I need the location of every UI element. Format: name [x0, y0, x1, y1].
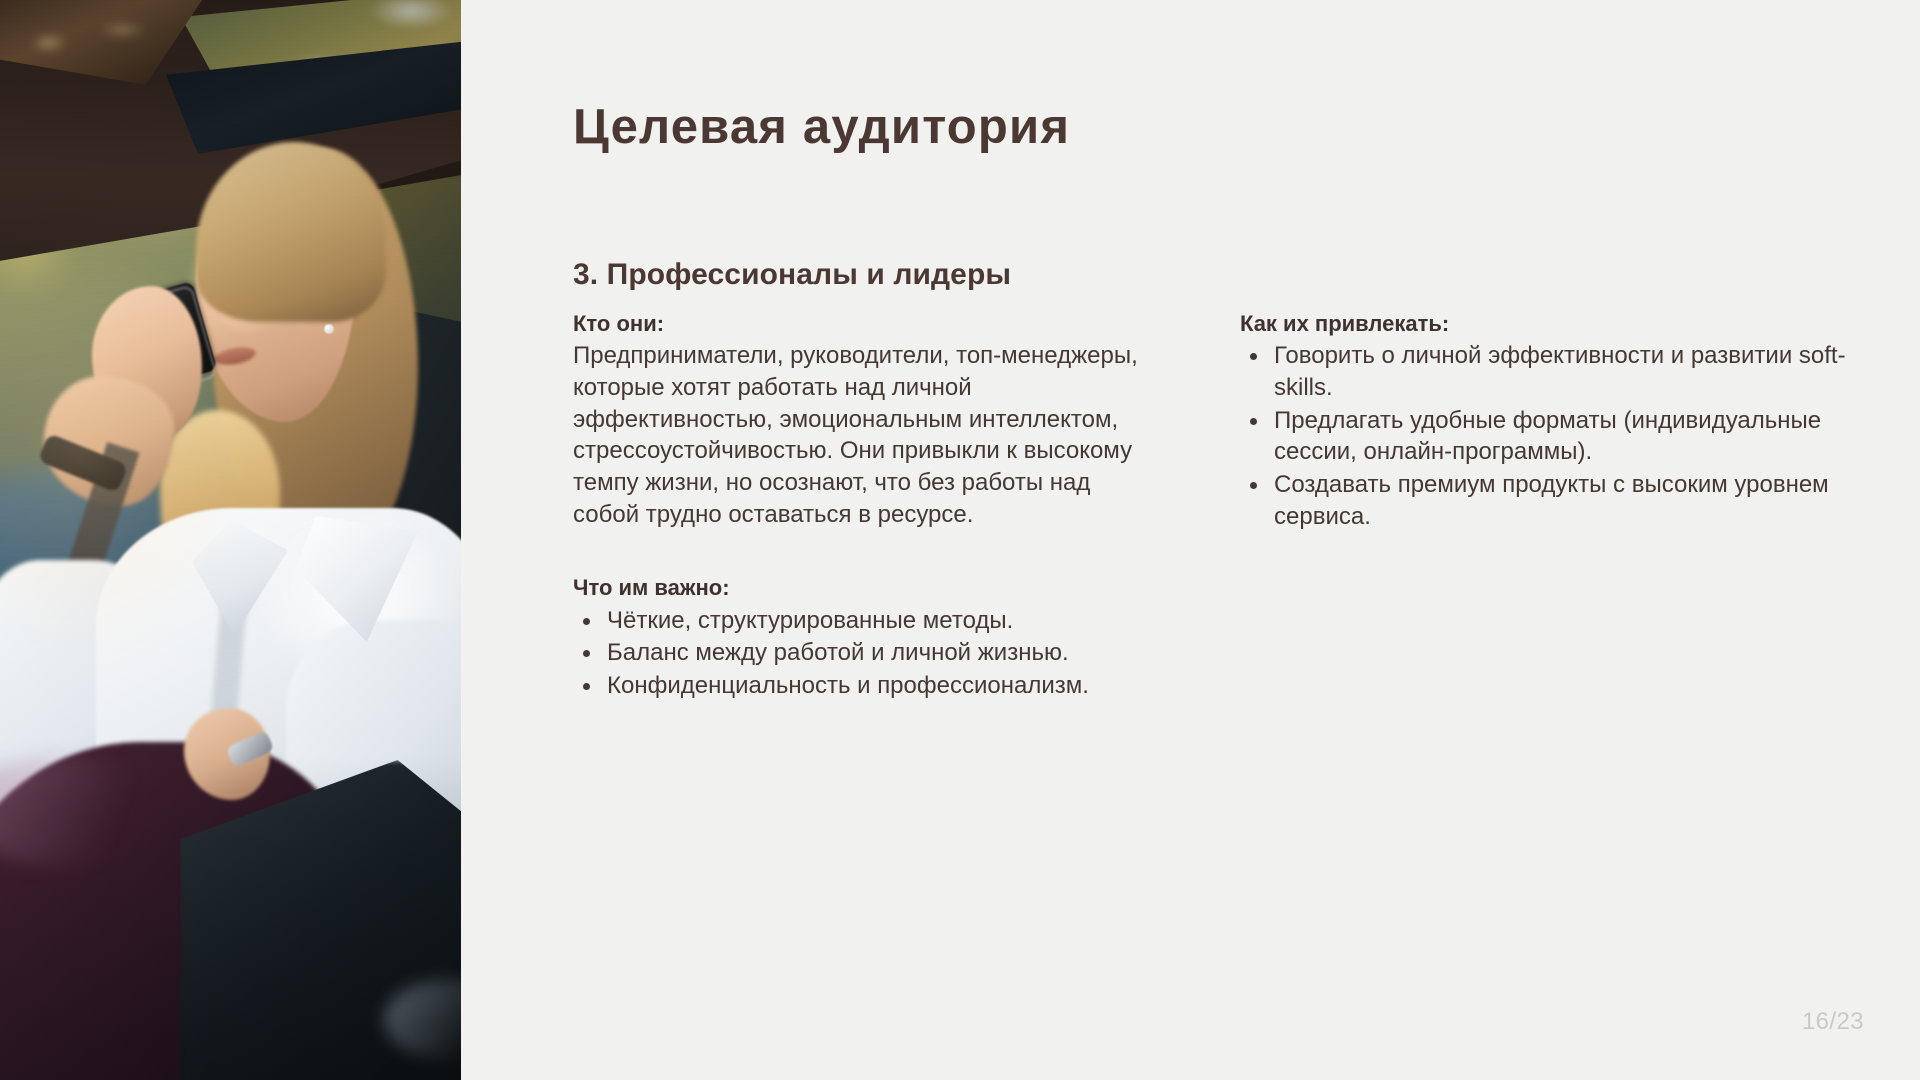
- bullet-dot-icon: [583, 650, 590, 657]
- list-item-label: Создавать премиум продукты с высоким уро…: [1274, 471, 1829, 530]
- list-item-label: Говорить о личной эффективности и развит…: [1274, 342, 1846, 401]
- block-label: Кто они:: [573, 308, 1158, 339]
- list-item: Создавать премиум продукты с высоким уро…: [1240, 469, 1873, 532]
- block-label: Что им важно:: [573, 572, 1158, 603]
- list-item-label: Конфиденциальность и профессионализм.: [607, 672, 1089, 699]
- bullet-list: Говорить о личной эффективности и развит…: [1240, 340, 1873, 532]
- slide-root: Целевая аудитория 3. Профессионалы и лид…: [0, 0, 1920, 1080]
- list-item-label: Чёткие, структурированные методы.: [607, 607, 1013, 634]
- block-paragraph: Предприниматели, руководители, топ-менед…: [573, 340, 1158, 530]
- slide-content: Целевая аудитория 3. Профессионалы и лид…: [461, 0, 1920, 1080]
- block-label: Как их привлекать:: [1240, 308, 1873, 339]
- block-who-they-are: Кто они: Предприниматели, руководители, …: [573, 308, 1158, 530]
- page-title: Целевая аудитория: [573, 101, 1070, 154]
- bullet-dot-icon: [583, 618, 590, 625]
- column-left: Кто они: Предприниматели, руководители, …: [573, 308, 1158, 703]
- slide-photo: [0, 0, 461, 1080]
- list-item-label: Предлагать удобные форматы (индивидуальн…: [1274, 407, 1821, 466]
- list-item: Чёткие, структурированные методы.: [573, 605, 1158, 637]
- list-item: Конфиденциальность и профессионализм.: [573, 670, 1158, 702]
- bullet-list: Чёткие, структурированные методы. Баланс…: [573, 605, 1158, 702]
- section-heading: 3. Профессионалы и лидеры: [573, 258, 1011, 292]
- bullet-dot-icon: [1250, 353, 1257, 360]
- content-columns: Кто они: Предприниматели, руководители, …: [573, 308, 1873, 703]
- block-what-matters: Что им важно: Чёткие, структурированные …: [573, 572, 1158, 701]
- list-item: Баланс между работой и личной жизнью.: [573, 637, 1158, 669]
- list-item-label: Баланс между работой и личной жизнью.: [607, 639, 1069, 666]
- column-right: Как их привлекать: Говорить о личной эфф…: [1240, 308, 1873, 703]
- bullet-dot-icon: [1250, 482, 1257, 489]
- photo-stage: [0, 0, 461, 1080]
- list-item: Предлагать удобные форматы (индивидуальн…: [1240, 405, 1873, 468]
- page-number: 16/23: [1802, 1008, 1864, 1036]
- block-how-to-attract: Как их привлекать: Говорить о личной эфф…: [1240, 308, 1873, 532]
- earring: [324, 324, 334, 334]
- bullet-dot-icon: [1250, 418, 1257, 425]
- list-item: Говорить о личной эффективности и развит…: [1240, 340, 1873, 403]
- bullet-dot-icon: [583, 683, 590, 690]
